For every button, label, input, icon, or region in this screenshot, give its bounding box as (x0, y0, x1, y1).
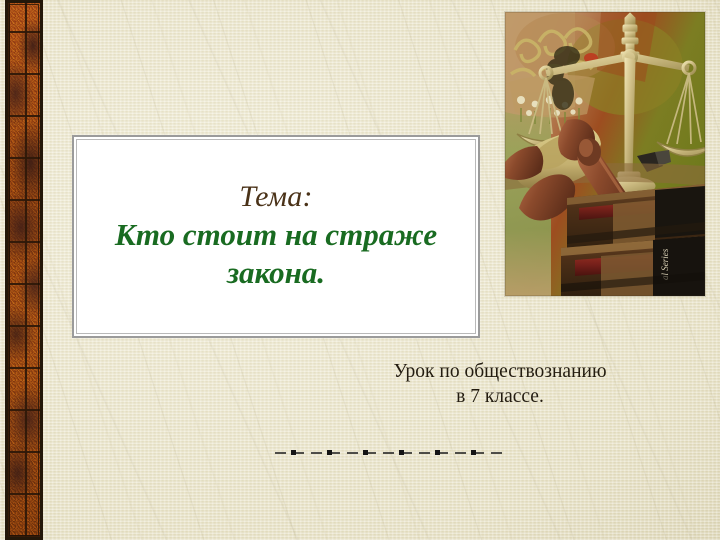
subtitle-line-2: в 7 классе. (330, 385, 670, 410)
justice-illustration: al Series (505, 12, 705, 296)
presentation-slide: al Series Тема: Кто стоит на страже зако… (0, 0, 720, 540)
page-title: Кто стоит на страже закона. (111, 216, 441, 292)
subtitle-line-1: Урок по обществознанию (330, 360, 670, 385)
title-label: Тема: (239, 181, 312, 213)
dash-dot-divider (275, 448, 507, 458)
border-inner-line (9, 4, 39, 536)
subtitle: Урок по обществознанию в 7 классе. (330, 360, 670, 410)
title-box-inner-frame: Тема: Кто стоит на страже закона. (76, 139, 476, 334)
left-decorative-border (5, 0, 43, 540)
title-box: Тема: Кто стоит на страже закона. (72, 135, 480, 338)
